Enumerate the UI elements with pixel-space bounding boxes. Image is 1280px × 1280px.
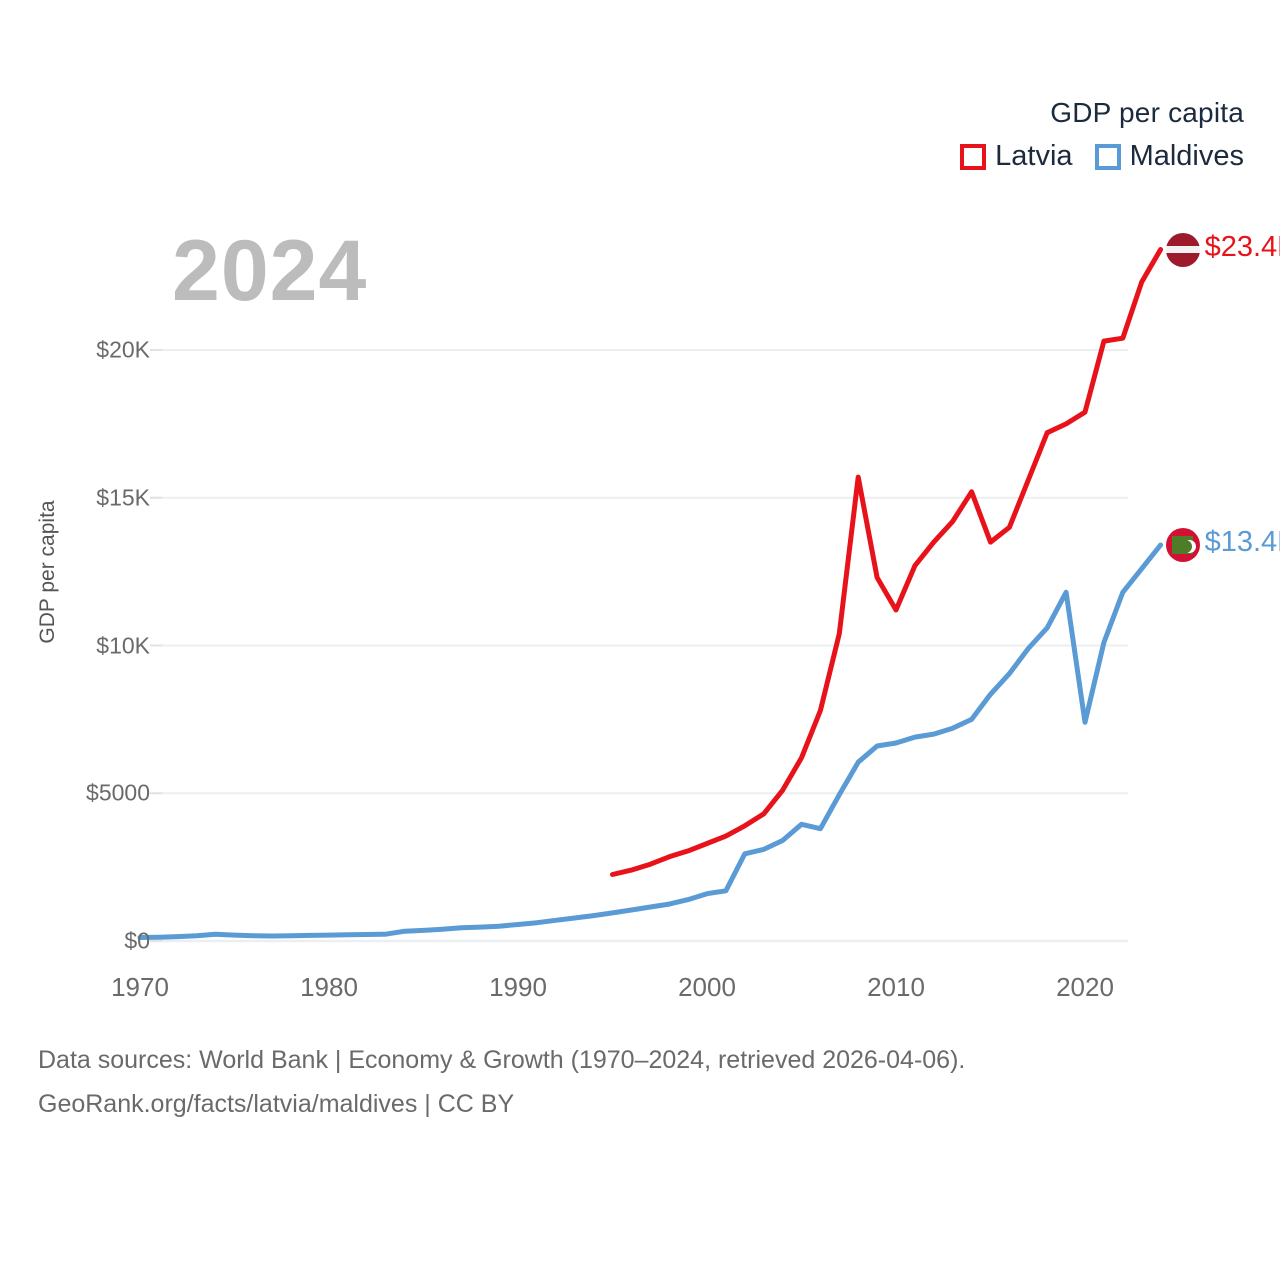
x-tick-label: 1990 [489, 972, 547, 1003]
legend-entry-maldives[interactable]: Maldives [1095, 140, 1244, 173]
footer-line-sources: Data sources: World Bank | Economy & Gro… [38, 1038, 965, 1082]
legend-label-latvia: Latvia [995, 140, 1072, 173]
x-tick-label: 1970 [111, 972, 169, 1003]
series-lines [140, 250, 1161, 938]
footer-attribution: Data sources: World Bank | Economy & Gro… [38, 1038, 965, 1126]
legend-entry-latvia[interactable]: Latvia [960, 140, 1072, 173]
maldives-flag-crescent [1179, 540, 1192, 553]
y-tick-label: $0 [124, 928, 150, 955]
y-axis-title: GDP per capita [36, 462, 60, 682]
legend-swatch-maldives [1095, 144, 1121, 170]
legend: GDP per capita Latvia Maldives [960, 96, 1244, 173]
legend-title: GDP per capita [960, 96, 1244, 130]
legend-entries: Latvia Maldives [960, 140, 1244, 173]
y-tick-label: $10K [96, 632, 150, 659]
x-tick-label: 2020 [1056, 972, 1114, 1003]
y-tick-label: $20K [96, 337, 150, 364]
x-tick-label: 2010 [867, 972, 925, 1003]
series-line-maldives [140, 545, 1161, 938]
gdp-per-capita-chart: GDP per capita $0$5000$10K$15K$20K 19701… [0, 0, 1280, 1280]
legend-label-maldives: Maldives [1130, 140, 1244, 173]
latvia-flag-band-bottom [1166, 253, 1200, 267]
latvia-flag-icon [1166, 233, 1200, 267]
legend-swatch-latvia [960, 144, 986, 170]
latvia-flag-band-middle [1166, 246, 1200, 253]
y-tick-label: $15K [96, 484, 150, 511]
latvia-end-value: $23.4K [1205, 231, 1280, 264]
series-line-latvia [613, 250, 1161, 875]
x-tick-label: 1980 [300, 972, 358, 1003]
maldives-end-value: $13.4K [1205, 526, 1280, 559]
year-watermark: 2024 [172, 228, 367, 314]
x-tick-label: 2000 [678, 972, 736, 1003]
y-tick-label: $5000 [86, 780, 150, 807]
maldives-flag-icon [1166, 528, 1200, 562]
latvia-flag-band-top [1166, 233, 1200, 247]
gridlines [150, 350, 1128, 941]
footer-line-license: GeoRank.org/facts/latvia/maldives | CC B… [38, 1082, 965, 1126]
